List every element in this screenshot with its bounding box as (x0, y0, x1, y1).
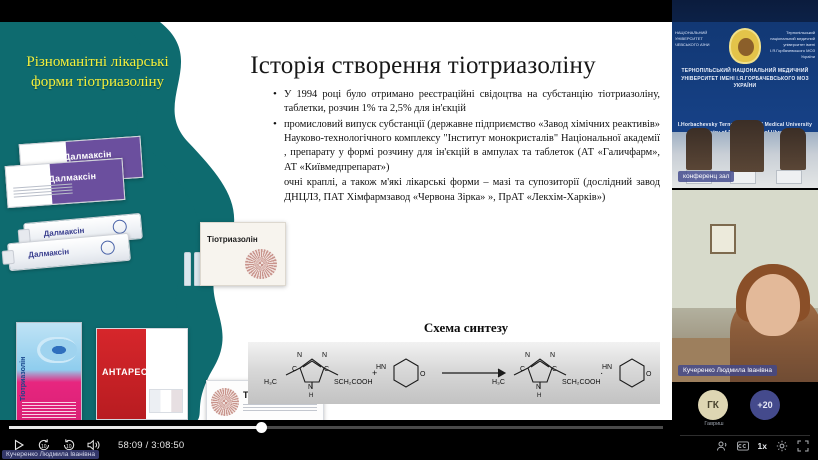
eye-illustration (37, 337, 77, 363)
video-tile-speaker[interactable]: Кучеренко Людмила Іванівна (672, 190, 818, 382)
scheme-label-c: C (552, 366, 557, 373)
speaker-face (746, 274, 800, 336)
scheme-label-n: N (525, 352, 530, 359)
avatar-name-label: Гавриш (692, 421, 736, 427)
fullscreen-icon[interactable] (797, 440, 809, 452)
chair (730, 120, 764, 172)
tabbox-textlines (243, 404, 317, 413)
time-display: 58:09 / 3:08:50 (118, 440, 184, 451)
scheme-title: Схема синтезу (272, 320, 660, 336)
university-crest-icon (729, 28, 761, 64)
captions-icon[interactable] (737, 440, 749, 452)
scheme-label-hn: HN (376, 364, 386, 371)
scheme-label-n: N (322, 352, 327, 359)
scheme-label-o: O (420, 371, 426, 378)
product-image-thiotriazoline-eyedrops: Тіотриазолін (16, 322, 82, 422)
scheme-label-n: N (297, 352, 302, 359)
progress-handle[interactable] (256, 422, 267, 433)
avatar-overflow-count[interactable]: +20 (750, 390, 780, 420)
avatar-initials[interactable]: ГК (698, 390, 728, 420)
tile-name-label: Кучеренко Людмила Іванівна (678, 365, 777, 376)
participants-icon[interactable] (716, 440, 728, 452)
slide-bullet-item: У 1994 році було отримано реєстраційні с… (272, 88, 660, 117)
tube-seal-icon (100, 240, 115, 255)
scheme-label-n: N (308, 384, 313, 391)
overflow-participants: ГК Гавриш +20 (672, 386, 818, 432)
attendee-silhouette (780, 128, 806, 170)
presentation-slide: Різноманітні лікарські форми тіотриазолі… (0, 22, 672, 422)
scheme-label-h: H (537, 393, 541, 399)
banner-main-text: ТЕРНОПІЛЬСЬКИЙ НАЦІОНАЛЬНИЙ МЕДИЧНИЙ УНІ… (676, 68, 814, 91)
rail-controls: 1x (672, 436, 818, 456)
wall-frame (710, 224, 736, 254)
scheme-label-me: H₃C (492, 379, 505, 386)
cell-illustration (211, 388, 239, 416)
banner-left-text: НАЦІОНАЛЬНИЙ УНІВЕРСИТЕТ ЧЕВСЬКОГО АЇНИ (675, 30, 717, 48)
video-tile-conference-room[interactable]: НАЦІОНАЛЬНИЙ УНІВЕРСИТЕТ ЧЕВСЬКОГО АЇНИ … (672, 0, 818, 188)
slide-bullet-list: У 1994 році було отримано реєстраційні с… (272, 88, 660, 206)
eyedrops-title: Тіотриазолін (20, 305, 27, 401)
product-image-thiotriazoline-ampoules-box: Тіотриазолін (200, 222, 286, 286)
desk-document (776, 170, 802, 184)
scheme-label-c: C (292, 366, 297, 373)
banner-right-text: Тернопільський національний медичний уні… (765, 30, 815, 60)
synthesis-scheme-image: N N C C N H H₃C SCH₂COOH + HN O N N C (248, 342, 660, 404)
settings-gear-icon[interactable] (776, 440, 788, 452)
antares-title: АНТАРЕС (102, 367, 148, 377)
synthesis-scheme-svg: N N C C N H H₃C SCH₂COOH + HN O N N C (248, 342, 660, 404)
product-image-antares: АНТАРЕС (96, 328, 188, 420)
tube-cap (2, 250, 15, 266)
video-player-controls: 10 10 58:09 / 3:08:50 Кучеренко Людмила … (0, 420, 672, 460)
slide-title: Історія створення тіотриазоліну (188, 52, 658, 80)
scheme-label-c: C (520, 366, 525, 373)
meeting-recording-player: Різноманітні лікарські форми тіотриазолі… (0, 0, 818, 460)
slide-bullet-item: промисловий випуск субстанції (державне … (272, 118, 660, 175)
progress-scrubber[interactable] (9, 426, 663, 429)
scheme-label-hn: HN (602, 364, 612, 371)
attendee-silhouette (686, 128, 712, 170)
scheme-label-n: N (550, 352, 555, 359)
participant-rail: НАЦІОНАЛЬНИЙ УНІВЕРСИТЕТ ЧЕВСЬКОГО АЇНИ … (672, 0, 818, 460)
playback-speed-label[interactable]: 1x (758, 441, 767, 451)
tile-name-label: конференц зал (678, 171, 734, 182)
ampbox-title: Тіотриазолін (207, 235, 258, 244)
scheme-label-side: SCH₂COOH (562, 379, 601, 386)
cell-illustration (245, 249, 277, 279)
active-speaker-label: Кучеренко Людмила Іванівна (2, 450, 99, 459)
tube-title: Далмаксін (28, 247, 70, 260)
antares-vials (149, 389, 183, 413)
product-image-dalmaksin-box-2: Далмаксін (5, 158, 126, 208)
scheme-label-n: N (536, 384, 541, 391)
eyedrops-textlines (22, 402, 76, 420)
progress-fill (9, 426, 261, 429)
scheme-label-h: H (309, 393, 313, 399)
scheme-label-side: SCH₂COOH (334, 379, 373, 386)
slide-bullet-item: очні краплі, а також м'які лікарські фор… (272, 176, 660, 205)
scheme-label-c: C (324, 366, 329, 373)
slide-sidebar-heading: Різноманітні лікарські форми тіотриазолі… (10, 52, 185, 93)
shared-screen-stage[interactable]: Різноманітні лікарські форми тіотриазолі… (0, 0, 672, 460)
scheme-label-me: H₃C (264, 379, 277, 386)
antares-red-panel: АНТАРЕС (97, 329, 146, 419)
scheme-label-o: O (646, 371, 652, 378)
